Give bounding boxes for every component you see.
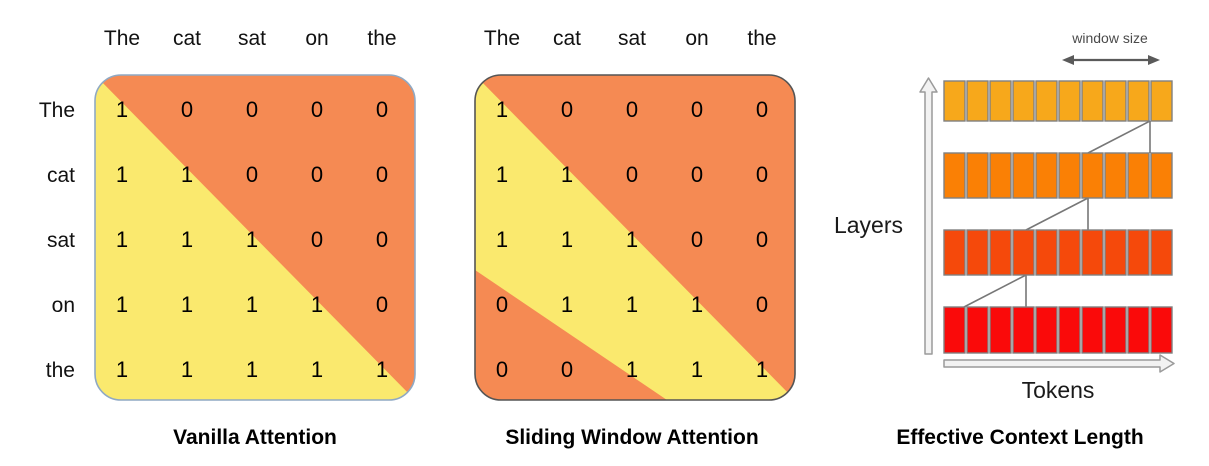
token-bar xyxy=(1105,230,1126,275)
cell-1-1: 1 xyxy=(561,162,573,187)
token-bar xyxy=(990,230,1011,275)
cell-3-4: 0 xyxy=(376,292,388,317)
cell-1-3: 0 xyxy=(691,162,703,187)
cell-2-2: 1 xyxy=(626,227,638,252)
cell-0-1: 0 xyxy=(181,97,193,122)
cell-3-1: 1 xyxy=(561,292,573,317)
cell-1-4: 0 xyxy=(376,162,388,187)
token-bar xyxy=(944,81,965,121)
cell-0-3: 0 xyxy=(311,97,323,122)
token-bar xyxy=(1082,153,1103,198)
token-bar xyxy=(1059,81,1080,121)
caption-vanilla-attention: Vanilla Attention xyxy=(173,426,337,449)
cell-1-2: 0 xyxy=(246,162,258,187)
cell-1-2: 0 xyxy=(626,162,638,187)
y-axis-label-layers: Layers xyxy=(834,212,903,238)
token-bar xyxy=(967,153,988,198)
token-bar xyxy=(1013,153,1034,198)
token-bar xyxy=(967,230,988,275)
column-header-1: cat xyxy=(553,27,581,50)
token-bar xyxy=(1151,307,1172,353)
cell-1-0: 1 xyxy=(496,162,508,187)
cell-4-1: 0 xyxy=(561,357,573,382)
cell-1-3: 0 xyxy=(311,162,323,187)
cell-2-1: 1 xyxy=(181,227,193,252)
row-header-1: cat xyxy=(47,164,75,187)
cell-2-0: 1 xyxy=(116,227,128,252)
cell-3-3: 1 xyxy=(691,292,703,317)
cell-4-1: 1 xyxy=(181,357,193,382)
token-bar xyxy=(1105,153,1126,198)
column-header-0: The xyxy=(104,27,140,50)
token-bar xyxy=(1128,307,1149,353)
token-bar xyxy=(1105,81,1126,121)
cell-0-1: 0 xyxy=(561,97,573,122)
cell-3-2: 1 xyxy=(246,292,258,317)
row-header-3: on xyxy=(52,294,75,317)
token-bar xyxy=(1036,230,1057,275)
column-header-0: The xyxy=(484,27,520,50)
cell-3-0: 1 xyxy=(116,292,128,317)
token-bar xyxy=(990,81,1011,121)
token-bar xyxy=(1082,307,1103,353)
caption-sliding-window-attention: Sliding Window Attention xyxy=(505,426,758,449)
cell-0-2: 0 xyxy=(246,97,258,122)
token-bar xyxy=(1059,153,1080,198)
token-bar xyxy=(1128,153,1149,198)
cell-2-1: 1 xyxy=(561,227,573,252)
token-bar xyxy=(1013,307,1034,353)
token-bar xyxy=(990,307,1011,353)
cell-2-4: 0 xyxy=(756,227,768,252)
cell-2-3: 0 xyxy=(691,227,703,252)
column-header-3: on xyxy=(685,27,708,50)
column-header-1: cat xyxy=(173,27,201,50)
cell-2-4: 0 xyxy=(376,227,388,252)
row-header-0: The xyxy=(39,99,75,122)
window-size-label: window size xyxy=(1071,30,1148,46)
cell-4-3: 1 xyxy=(311,357,323,382)
token-bar xyxy=(1036,153,1057,198)
cell-0-2: 0 xyxy=(626,97,638,122)
cell-4-3: 1 xyxy=(691,357,703,382)
cell-1-0: 1 xyxy=(116,162,128,187)
cell-4-0: 1 xyxy=(116,357,128,382)
token-bar xyxy=(1036,307,1057,353)
cell-3-1: 1 xyxy=(181,292,193,317)
cell-3-2: 1 xyxy=(626,292,638,317)
column-header-2: sat xyxy=(618,27,646,50)
cell-4-4: 1 xyxy=(756,357,768,382)
cell-1-1: 1 xyxy=(181,162,193,187)
token-bar xyxy=(944,307,965,353)
row-header-4: the xyxy=(46,359,75,382)
token-bar xyxy=(1105,307,1126,353)
cell-0-4: 0 xyxy=(756,97,768,122)
token-bar xyxy=(944,153,965,198)
cell-0-0: 1 xyxy=(496,97,508,122)
x-axis-label-tokens: Tokens xyxy=(1022,377,1095,403)
token-bar xyxy=(944,230,965,275)
column-header-2: sat xyxy=(238,27,266,50)
token-bar xyxy=(1082,81,1103,121)
cell-3-0: 0 xyxy=(496,292,508,317)
cell-2-0: 1 xyxy=(496,227,508,252)
token-bar xyxy=(1128,81,1149,121)
attention-diagram: The cat sat on the The cat sat on the 1 … xyxy=(0,0,1209,466)
cell-4-4: 1 xyxy=(376,357,388,382)
token-bar xyxy=(1013,230,1034,275)
cell-1-4: 0 xyxy=(756,162,768,187)
column-header-4: the xyxy=(747,27,776,50)
panel-sliding-window-attention: The cat sat on the 1 0 0 0 0 1 1 0 0 0 1… xyxy=(475,27,795,449)
token-bar xyxy=(1082,230,1103,275)
token-bar xyxy=(1151,153,1172,198)
cell-2-2: 1 xyxy=(246,227,258,252)
token-bar xyxy=(1059,230,1080,275)
token-bar xyxy=(1036,81,1057,121)
row-header-2: sat xyxy=(47,229,75,252)
token-bar xyxy=(967,307,988,353)
cell-0-3: 0 xyxy=(691,97,703,122)
cell-0-4: 0 xyxy=(376,97,388,122)
cell-4-2: 1 xyxy=(246,357,258,382)
column-header-4: the xyxy=(367,27,396,50)
cell-4-0: 0 xyxy=(496,357,508,382)
cell-3-3: 1 xyxy=(311,292,323,317)
cell-4-2: 1 xyxy=(626,357,638,382)
token-bar xyxy=(1013,81,1034,121)
token-bar xyxy=(1151,81,1172,121)
cell-2-3: 0 xyxy=(311,227,323,252)
column-header-3: on xyxy=(305,27,328,50)
cell-3-4: 0 xyxy=(756,292,768,317)
cell-0-0: 1 xyxy=(116,97,128,122)
token-bar xyxy=(967,81,988,121)
token-bar xyxy=(990,153,1011,198)
caption-effective-context-length: Effective Context Length xyxy=(896,426,1143,449)
token-bar xyxy=(1059,307,1080,353)
token-bar xyxy=(1128,230,1149,275)
token-bar xyxy=(1151,230,1172,275)
